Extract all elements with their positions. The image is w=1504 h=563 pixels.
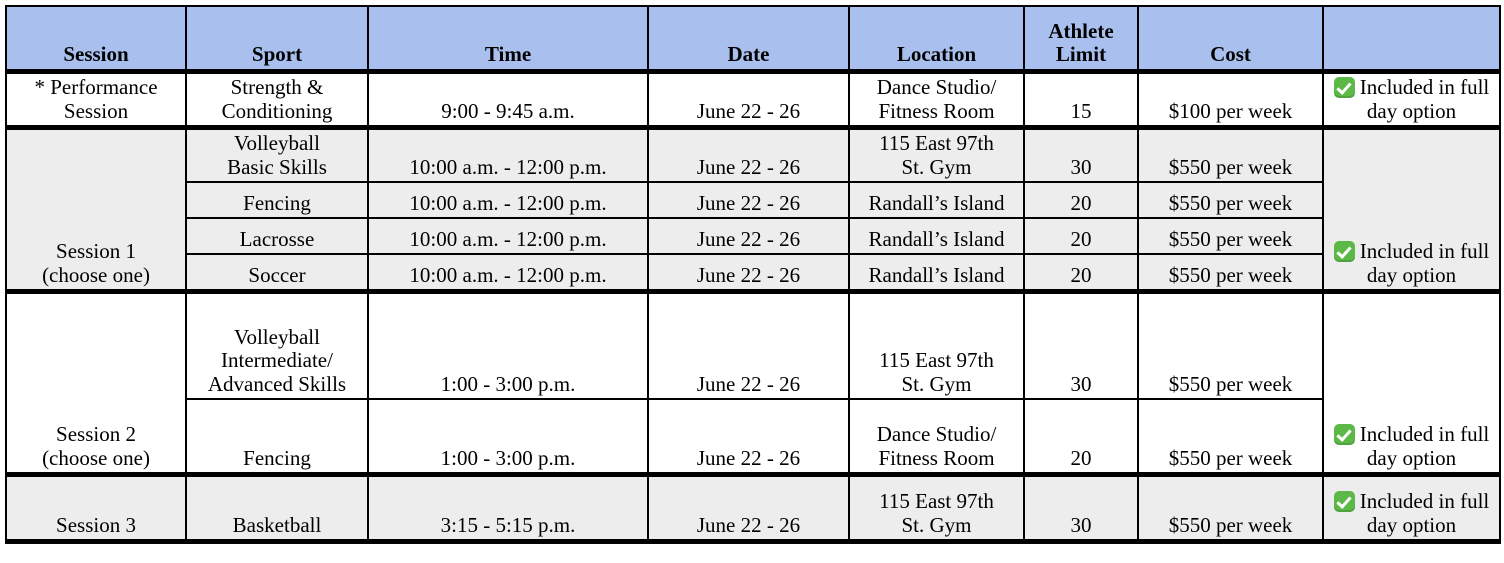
column-header-time: Time [368,6,648,72]
cell-athlete-limit: 30 [1024,128,1138,183]
cell-athlete-limit: 30 [1024,475,1138,542]
cell-sport: Strength & Conditioning [186,72,368,128]
cell-location: Dance Studio/ Fitness Room [849,72,1024,128]
column-header-sport: Sport [186,6,368,72]
session-label-session-1: Session 1 (choose one) [6,128,186,292]
location-line2: St. Gym [901,155,971,179]
cell-included-session-2: Included in full day option [1323,292,1500,475]
cell-cost: $550 per week [1138,182,1323,218]
table-row: Session 2 (choose one) Volleyball Interm… [6,292,1500,400]
cell-date: June 22 - 26 [648,218,849,254]
sport-line2: Intermediate/ [221,348,333,372]
location-line1: Dance Studio/ [877,422,997,446]
cell-sport: Volleyball Basic Skills [186,128,368,183]
sport-line3: Advanced Skills [208,372,346,396]
cell-athlete-limit: 30 [1024,292,1138,400]
cell-location: Randall’s Island [849,254,1024,292]
table-body: * Performance Session Strength & Conditi… [6,72,1500,542]
column-header-athlete-limit: Athlete Limit [1024,6,1138,72]
cell-cost: $550 per week [1138,218,1323,254]
table-row: * Performance Session Strength & Conditi… [6,72,1500,128]
location-line1: Dance Studio/ [877,75,997,99]
schedule-sheet: Session Sport Time Date Location Athlete… [0,5,1504,563]
sport-line1: Strength & [231,75,324,99]
sport-line2: Basic Skills [227,155,327,179]
sport-line2: Conditioning [222,99,333,123]
cell-athlete-limit: 15 [1024,72,1138,128]
cell-time: 10:00 a.m. - 12:00 p.m. [368,218,648,254]
cell-time: 1:00 - 3:00 p.m. [368,292,648,400]
location-line2: Fitness Room [878,99,994,123]
session-label-line1: * Performance [34,75,157,99]
session-label-session-2: Session 2 (choose one) [6,292,186,475]
cell-date: June 22 - 26 [648,475,849,542]
column-header-cost: Cost [1138,6,1323,72]
white-check-mark-icon [1334,424,1355,445]
cell-location: 115 East 97th St. Gym [849,128,1024,183]
athlete-limit-line1: Athlete [1048,19,1113,43]
included-note: Included in full day option [1360,75,1489,123]
cell-time: 10:00 a.m. - 12:00 p.m. [368,254,648,292]
camp-schedule-table: Session Sport Time Date Location Athlete… [5,5,1501,544]
cell-location: Randall’s Island [849,182,1024,218]
cell-sport: Fencing [186,399,368,475]
cell-athlete-limit: 20 [1024,399,1138,475]
cell-included-session-1: Included in full day option [1323,128,1500,292]
cell-location: Dance Studio/ Fitness Room [849,399,1024,475]
table-row: Fencing 10:00 a.m. - 12:00 p.m. June 22 … [6,182,1500,218]
white-check-mark-icon [1334,241,1355,262]
cell-sport: Soccer [186,254,368,292]
cell-time: 1:00 - 3:00 p.m. [368,399,648,475]
cell-time: 3:15 - 5:15 p.m. [368,475,648,542]
column-header-date: Date [648,6,849,72]
table-row: Session 3 Basketball 3:15 - 5:15 p.m. Ju… [6,475,1500,542]
session-label-line2: (choose one) [42,446,150,470]
table-header: Session Sport Time Date Location Athlete… [6,6,1500,72]
cell-cost: $550 per week [1138,254,1323,292]
location-line1: 115 East 97th [879,131,994,155]
location-line1: 115 East 97th [879,489,994,513]
sport-line1: Volleyball [234,131,320,155]
session-label-line1: Session 2 [56,422,136,446]
cell-athlete-limit: 20 [1024,254,1138,292]
cell-cost: $550 per week [1138,475,1323,542]
white-check-mark-icon [1334,491,1355,512]
table-row: Session 1 (choose one) Volleyball Basic … [6,128,1500,183]
cell-time: 10:00 a.m. - 12:00 p.m. [368,182,648,218]
included-note: Included in full day option [1360,239,1489,287]
cell-date: June 22 - 26 [648,254,849,292]
cell-sport: Fencing [186,182,368,218]
column-header-location: Location [849,6,1024,72]
table-row: Lacrosse 10:00 a.m. - 12:00 p.m. June 22… [6,218,1500,254]
cell-sport: Volleyball Intermediate/ Advanced Skills [186,292,368,400]
cell-date: June 22 - 26 [648,399,849,475]
session-label-line2: Session [64,99,128,123]
included-note: Included in full day option [1360,489,1489,537]
cell-date: June 22 - 26 [648,72,849,128]
cell-time: 9:00 - 9:45 a.m. [368,72,648,128]
cell-athlete-limit: 20 [1024,182,1138,218]
session-label-line1: Session 3 [56,513,136,537]
header-row: Session Sport Time Date Location Athlete… [6,6,1500,72]
cell-cost: $550 per week [1138,399,1323,475]
location-line2: Fitness Room [878,446,994,470]
cell-location: Randall’s Island [849,218,1024,254]
column-header-included [1323,6,1500,72]
table-row: Fencing 1:00 - 3:00 p.m. June 22 - 26 Da… [6,399,1500,475]
cell-cost: $100 per week [1138,72,1323,128]
included-note: Included in full day option [1360,422,1489,470]
session-label-session-3: Session 3 [6,475,186,542]
cell-date: June 22 - 26 [648,128,849,183]
session-label-line2: (choose one) [42,263,150,287]
location-line2: St. Gym [901,372,971,396]
cell-location: 115 East 97th St. Gym [849,292,1024,400]
location-line1: 115 East 97th [879,348,994,372]
cell-athlete-limit: 20 [1024,218,1138,254]
cell-location: 115 East 97th St. Gym [849,475,1024,542]
cell-sport: Lacrosse [186,218,368,254]
cell-time: 10:00 a.m. - 12:00 p.m. [368,128,648,183]
location-line2: St. Gym [901,513,971,537]
white-check-mark-icon [1334,77,1355,98]
cell-date: June 22 - 26 [648,292,849,400]
session-label-line1: Session 1 [56,239,136,263]
table-row: Soccer 10:00 a.m. - 12:00 p.m. June 22 -… [6,254,1500,292]
cell-cost: $550 per week [1138,292,1323,400]
cell-included-performance: Included in full day option [1323,72,1500,128]
athlete-limit-line2: Limit [1056,42,1106,66]
cell-included-session-3: Included in full day option [1323,475,1500,542]
cell-sport: Basketball [186,475,368,542]
column-header-session: Session [6,6,186,72]
cell-cost: $550 per week [1138,128,1323,183]
cell-date: June 22 - 26 [648,182,849,218]
sport-line1: Volleyball [234,325,320,349]
session-label-performance: * Performance Session [6,72,186,128]
